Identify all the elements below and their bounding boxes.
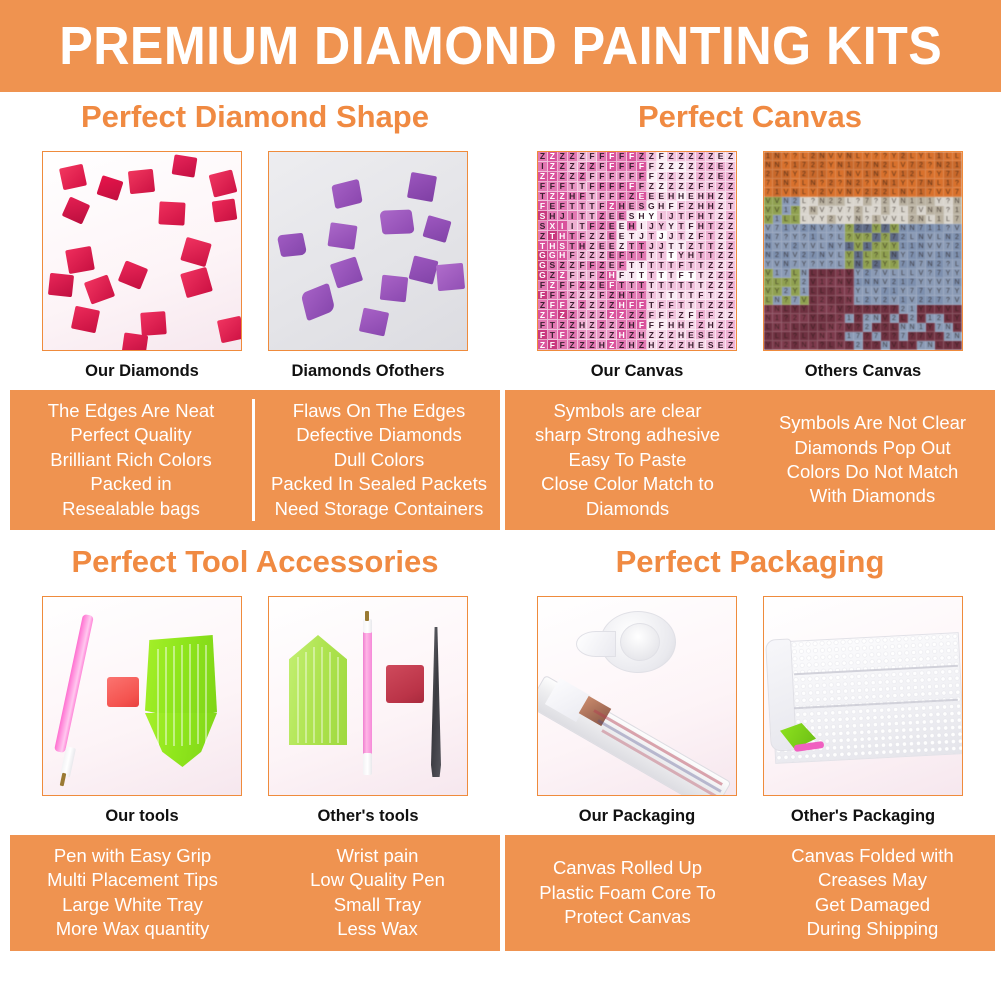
- canvas-symbol-cell-blurry: 1: [899, 170, 908, 179]
- canvas-symbol-cell: T: [667, 281, 677, 291]
- canvas-symbol-cell: T: [587, 192, 597, 202]
- canvas-symbol-cell: F: [617, 271, 627, 281]
- canvas-symbol-cell: T: [706, 291, 716, 301]
- canvas-symbol-cell: T: [667, 241, 677, 251]
- canvas-symbol-cell-blurry: L: [881, 251, 890, 260]
- tray-rib: [189, 644, 191, 745]
- canvas-symbol-cell-blurry: Y: [791, 170, 800, 179]
- canvas-symbol-cell: T: [647, 281, 657, 291]
- canvas-symbol-cell: T: [637, 241, 647, 251]
- canvas-symbol-cell-blurry: 7: [854, 332, 863, 341]
- canvas-symbol-cell-blurry: 2: [917, 161, 926, 170]
- canvas-symbol-cell-blurry: L: [926, 215, 935, 224]
- canvas-symbol-cell-blurry: Y: [908, 179, 917, 188]
- feature-line: Packed in: [12, 472, 250, 496]
- canvas-symbol-cell-blurry: 1: [764, 305, 773, 314]
- canvas-symbol-cell-blurry: ?: [845, 305, 854, 314]
- canvas-symbol-cell-blurry: N: [908, 323, 917, 332]
- canvas-symbol-cell-blurry: Y: [773, 242, 782, 251]
- canvas-symbol-cell-blurry: ?: [764, 332, 773, 341]
- canvas-symbol-cell-blurry: Y: [935, 170, 944, 179]
- canvas-symbol-cell: H: [696, 221, 706, 231]
- canvas-symbol-cell: Z: [696, 152, 706, 162]
- canvas-symbol-cell: F: [568, 271, 578, 281]
- canvas-symbol-cell-blurry: 2: [791, 314, 800, 323]
- canvas-symbol-cell-blurry: ?: [782, 314, 791, 323]
- canvas-symbol-cell: Z: [726, 231, 736, 241]
- feature-box-tools: Pen with Easy Grip Multi Placement Tips …: [10, 835, 500, 951]
- canvas-symbol-cell-blurry: L: [800, 332, 809, 341]
- canvas-symbol-cell-blurry: 2: [890, 278, 899, 287]
- canvas-symbol-cell-blurry: N: [917, 233, 926, 242]
- canvas-symbol-cell: H: [548, 211, 558, 221]
- canvas-symbol-cell-blurry: 7: [908, 278, 917, 287]
- section-tool-accessories: Perfect Tool Accessories: [10, 545, 500, 951]
- canvas-symbol-cell: E: [607, 241, 617, 251]
- canvas-symbol-cell: Z: [587, 281, 597, 291]
- canvas-symbol-cell-blurry: L: [764, 296, 773, 305]
- purple-diamond: [277, 233, 307, 257]
- canvas-symbol-cell-blurry: L: [836, 233, 845, 242]
- canvas-symbol-cell-blurry: ?: [827, 296, 836, 305]
- canvas-symbol-cell: Z: [677, 340, 687, 350]
- feature-col-ours: Canvas Rolled Up Plastic Foam Core To Pr…: [505, 844, 750, 942]
- canvas-symbol-cell: F: [548, 300, 558, 310]
- canvas-symbol-cell-blurry: N: [809, 206, 818, 215]
- canvas-symbol-cell: Z: [548, 162, 558, 172]
- canvas-symbol-cell-blurry: 2: [881, 188, 890, 197]
- wax-square: [107, 677, 139, 707]
- header-banner: PREMIUM DIAMOND PAINTING KITS: [0, 0, 1001, 92]
- canvas-symbol-cell-blurry: N: [782, 251, 791, 260]
- canvas-symbol-cell-blurry: Y: [935, 287, 944, 296]
- canvas-symbol-cell-blurry: 1: [773, 269, 782, 278]
- canvas-symbol-cell: Z: [548, 271, 558, 281]
- canvas-symbol-cell: Z: [627, 310, 637, 320]
- canvas-symbol-cell: T: [677, 241, 687, 251]
- canvas-symbol-cell: T: [686, 291, 696, 301]
- canvas-symbol-cell: H: [696, 211, 706, 221]
- canvas-symbol-cell: Y: [667, 221, 677, 231]
- canvas-symbol-cell-blurry: 2: [827, 278, 836, 287]
- canvas-symbol-cell: Z: [587, 320, 597, 330]
- canvas-symbol-cell-blurry: 1: [863, 242, 872, 251]
- canvas-symbol-cell: Z: [558, 310, 568, 320]
- canvas-symbol-cell: Z: [716, 320, 726, 330]
- canvas-symbol-cell-blurry: V: [791, 224, 800, 233]
- canvas-symbol-cell-blurry: Y: [917, 278, 926, 287]
- canvas-symbol-cell: Z: [578, 291, 588, 301]
- canvas-symbol-cell: F: [597, 201, 607, 211]
- canvas-symbol-cell-blurry: 7: [917, 287, 926, 296]
- canvas-symbol-cell-blurry: L: [890, 188, 899, 197]
- canvas-symbol-cell-blurry: N: [773, 296, 782, 305]
- canvas-symbol-cell-blurry: Y: [944, 278, 953, 287]
- canvas-symbol-cell: I: [558, 221, 568, 231]
- canvas-symbol-cell: E: [627, 201, 637, 211]
- canvas-symbol-cell-blurry: 7: [926, 188, 935, 197]
- canvas-symbol-cell-blurry: ?: [863, 233, 872, 242]
- canvas-symbol-cell-blurry: ?: [881, 152, 890, 161]
- canvas-symbol-cell-blurry: 7: [836, 323, 845, 332]
- canvas-symbol-cell-blurry: 1: [773, 215, 782, 224]
- canvas-symbol-cell: E: [548, 201, 558, 211]
- canvas-symbol-cell: Z: [548, 152, 558, 162]
- canvas-symbol-cell-blurry: ?: [854, 314, 863, 323]
- canvas-symbol-cell: T: [647, 271, 657, 281]
- canvas-symbol-cell: T: [647, 261, 657, 271]
- canvas-symbol-cell-blurry: N: [764, 233, 773, 242]
- feature-col-ours: The Edges Are Neat Perfect Quality Brill…: [10, 399, 255, 521]
- canvas-symbol-cell: T: [706, 241, 716, 251]
- canvas-symbol-cell: Z: [716, 300, 726, 310]
- canvas-symbol-cell: Z: [706, 281, 716, 291]
- canvas-symbol-cell: Z: [607, 291, 617, 301]
- canvas-symbol-cell-blurry: 7: [872, 332, 881, 341]
- canvas-symbol-cell-blurry: Y: [899, 179, 908, 188]
- canvas-symbol-cell-blurry: Y: [764, 278, 773, 287]
- canvas-symbol-cell-blurry: V: [935, 242, 944, 251]
- canvas-symbol-cell-blurry: N: [908, 260, 917, 269]
- canvas-symbol-cell-blurry: Y: [926, 278, 935, 287]
- canvas-symbol-cell: T: [627, 241, 637, 251]
- canvas-symbol-cell: F: [617, 261, 627, 271]
- canvas-symbol-cell-blurry: ?: [881, 332, 890, 341]
- canvas-symbol-cell: Z: [726, 291, 736, 301]
- canvas-symbol-cell: Z: [716, 182, 726, 192]
- canvas-symbol-cell-blurry: N: [899, 197, 908, 206]
- canvas-symbol-cell-blurry: 2: [854, 179, 863, 188]
- feature-line: Large White Tray: [12, 893, 253, 917]
- canvas-symbol-cell: Z: [597, 310, 607, 320]
- feature-line: Resealable bags: [12, 497, 250, 521]
- canvas-symbol-cell: F: [686, 211, 696, 221]
- canvas-symbol-cell-blurry: ?: [926, 170, 935, 179]
- canvas-symbol-cell-blurry: N: [926, 179, 935, 188]
- canvas-symbol-cell-blurry: ?: [863, 215, 872, 224]
- canvas-symbol-cell-blurry: ?: [827, 170, 836, 179]
- canvas-symbol-cell: F: [607, 162, 617, 172]
- canvas-symbol-cell: Z: [726, 172, 736, 182]
- canvas-symbol-cell-blurry: 2: [773, 251, 782, 260]
- canvas-symbol-cell-blurry: ?: [809, 197, 818, 206]
- canvas-symbol-cell: F: [647, 320, 657, 330]
- canvas-symbol-cell: G: [647, 201, 657, 211]
- canvas-symbol-cell-blurry: ?: [926, 161, 935, 170]
- canvas-symbol-cell-blurry: 2: [809, 161, 818, 170]
- canvas-symbol-cell: F: [637, 300, 647, 310]
- canvas-symbol-cell: Z: [597, 320, 607, 330]
- section-title-canvas: Perfect Canvas: [505, 100, 995, 146]
- canvas-symbol-cell: H: [627, 221, 637, 231]
- canvas-symbol-cell: Z: [568, 261, 578, 271]
- canvas-symbol-cell: Z: [706, 261, 716, 271]
- canvas-symbol-cell-blurry: L: [863, 251, 872, 260]
- canvas-symbol-cell: T: [578, 182, 588, 192]
- canvas-symbol-cell-blurry: 2: [935, 314, 944, 323]
- canvas-symbol-cell-blurry: V: [818, 206, 827, 215]
- canvas-symbol-cell-blurry: N: [827, 242, 836, 251]
- canvas-symbol-cell-blurry: L: [944, 314, 953, 323]
- canvas-symbol-cell: F: [617, 162, 627, 172]
- canvas-symbol-cell: F: [637, 182, 647, 192]
- canvas-symbol-cell-blurry: 7: [899, 260, 908, 269]
- canvas-symbol-cell-blurry: N: [782, 197, 791, 206]
- canvas-symbol-cell-blurry: 7: [917, 332, 926, 341]
- canvas-symbol-cell: Z: [716, 310, 726, 320]
- pink-pen: [363, 629, 372, 757]
- canvas-symbol-cell-blurry: L: [899, 341, 908, 350]
- canvas-symbol-cell: Z: [677, 182, 687, 192]
- canvas-symbol-cell: F: [568, 251, 578, 261]
- canvas-symbol-cell-blurry: 2: [890, 314, 899, 323]
- canvas-symbol-cell-blurry: V: [944, 305, 953, 314]
- tray-rib: [165, 647, 167, 745]
- canvas-symbol-cell-blurry: 2: [881, 161, 890, 170]
- canvas-symbol-cell: T: [538, 192, 548, 202]
- canvas-symbol-cell-blurry: Y: [827, 269, 836, 278]
- canvas-symbol-cell-blurry: 7: [926, 305, 935, 314]
- red-diamond: [140, 311, 167, 336]
- canvas-symbol-cell-blurry: V: [836, 188, 845, 197]
- canvas-symbol-cell-blurry: V: [764, 224, 773, 233]
- red-diamond: [71, 306, 100, 334]
- canvas-symbol-cell: I: [538, 162, 548, 172]
- canvas-symbol-cell-blurry: 2: [827, 179, 836, 188]
- feature-line: With Diamonds: [752, 484, 993, 508]
- canvas-symbol-cell: Z: [726, 261, 736, 271]
- canvas-symbol-cell: H: [568, 192, 578, 202]
- canvas-symbol-cell-blurry: 2: [791, 197, 800, 206]
- canvas-symbol-cell-blurry: 1: [935, 251, 944, 260]
- canvas-symbol-cell-blurry: 7: [917, 341, 926, 350]
- canvas-symbol-cell: Z: [706, 300, 716, 310]
- canvas-symbol-cell-blurry: 7: [791, 296, 800, 305]
- canvas-symbol-cell: T: [578, 201, 588, 211]
- canvas-symbol-cell: F: [686, 320, 696, 330]
- canvas-symbol-cell-blurry: Y: [809, 314, 818, 323]
- canvas-symbol-cell-blurry: 7: [863, 161, 872, 170]
- canvas-symbol-cell: T: [578, 211, 588, 221]
- canvas-symbol-cell: T: [568, 231, 578, 241]
- canvas-symbol-cell: Z: [597, 330, 607, 340]
- canvas-symbol-cell: F: [686, 221, 696, 231]
- canvas-symbol-cell-blurry: 1: [926, 224, 935, 233]
- canvas-symbol-cell: F: [637, 172, 647, 182]
- canvas-symbol-cell-blurry: 1: [773, 188, 782, 197]
- canvas-symbol-cell-blurry: ?: [872, 242, 881, 251]
- canvas-symbol-cell-blurry: ?: [872, 152, 881, 161]
- canvas-symbol-cell-blurry: L: [836, 260, 845, 269]
- canvas-symbol-cell-blurry: N: [854, 260, 863, 269]
- canvas-symbol-cell-blurry: N: [926, 341, 935, 350]
- canvas-symbol-cell: F: [696, 291, 706, 301]
- canvas-symbol-cell-blurry: ?: [872, 341, 881, 350]
- canvas-symbol-cell-blurry: 1: [773, 179, 782, 188]
- canvas-symbol-cell-blurry: V: [881, 215, 890, 224]
- canvas-symbol-cell-blurry: V: [764, 269, 773, 278]
- canvas-symbol-cell: Z: [578, 340, 588, 350]
- canvas-symbol-cell: Y: [647, 211, 657, 221]
- canvas-symbol-cell-blurry: 2: [863, 269, 872, 278]
- canvas-symbol-cell-blurry: 1: [908, 305, 917, 314]
- canvas-symbol-cell-blurry: N: [845, 296, 854, 305]
- canvas-symbol-cell: Z: [686, 201, 696, 211]
- canvas-symbol-cell-blurry: Y: [872, 224, 881, 233]
- canvas-symbol-cell: T: [627, 271, 637, 281]
- canvas-symbol-cell: Z: [677, 172, 687, 182]
- canvas-symbol-cell-blurry: 1: [890, 287, 899, 296]
- canvas-symbol-cell-blurry: L: [953, 323, 962, 332]
- canvas-symbol-cell-blurry: 1: [845, 314, 854, 323]
- canvas-symbol-cell: F: [617, 182, 627, 192]
- canvas-symbol-cell: F: [538, 281, 548, 291]
- canvas-symbol-cell-blurry: Y: [917, 152, 926, 161]
- canvas-symbol-cell-blurry: L: [773, 278, 782, 287]
- canvas-symbol-cell: I: [568, 211, 578, 221]
- canvas-symbol-cell-blurry: N: [773, 305, 782, 314]
- caption-other-tools: Other's tools: [268, 807, 468, 826]
- canvas-symbol-cell: Z: [568, 300, 578, 310]
- canvas-symbol-cell-blurry: ?: [791, 332, 800, 341]
- canvas-symbol-cell-blurry: 7: [827, 206, 836, 215]
- canvas-symbol-cell-blurry: V: [926, 332, 935, 341]
- canvas-symbol-cell-blurry: Y: [818, 215, 827, 224]
- canvas-symbol-cell: T: [637, 291, 647, 301]
- feature-line: Wrist pain: [257, 844, 498, 868]
- canvas-symbol-cell-blurry: ?: [800, 206, 809, 215]
- canvas-symbol-cell-blurry: ?: [881, 170, 890, 179]
- canvas-symbol-cell-blurry: V: [764, 215, 773, 224]
- canvas-symbol-cell-blurry: V: [827, 152, 836, 161]
- canvas-symbol-cell: Z: [716, 211, 726, 221]
- caption-our-canvas: Our Canvas: [537, 362, 737, 381]
- canvas-symbol-cell: T: [627, 281, 637, 291]
- canvas-symbol-cell: Z: [706, 271, 716, 281]
- canvas-symbol-cell-blurry: L: [953, 260, 962, 269]
- tray-rib: [329, 652, 331, 743]
- feature-line: Low Quality Pen: [257, 868, 498, 892]
- canvas-symbol-cell: F: [617, 192, 627, 202]
- canvas-symbol-cell-blurry: V: [890, 197, 899, 206]
- canvas-symbol-cell: Z: [627, 192, 637, 202]
- canvas-symbol-cell-blurry: N: [818, 251, 827, 260]
- canvas-symbol-cell: Z: [607, 310, 617, 320]
- canvas-symbol-cell: T: [548, 320, 558, 330]
- canvas-symbol-cell: E: [617, 221, 627, 231]
- canvas-symbol-cell-blurry: 1: [944, 179, 953, 188]
- canvas-symbol-cell-blurry: ?: [944, 296, 953, 305]
- canvas-symbol-cell-blurry: 1: [935, 215, 944, 224]
- canvas-symbol-cell: F: [607, 281, 617, 291]
- canvas-symbol-cell-blurry: 7: [917, 260, 926, 269]
- canvas-symbol-cell: E: [617, 231, 627, 241]
- canvas-symbol-cell: Z: [548, 281, 558, 291]
- canvas-symbol-cell-blurry: N: [782, 170, 791, 179]
- feature-line: Diamonds: [507, 497, 748, 521]
- canvas-symbol-cell-blurry: 7: [845, 287, 854, 296]
- canvas-symbol-cell-blurry: 1: [782, 224, 791, 233]
- canvas-symbol-cell: F: [558, 291, 568, 301]
- canvas-symbol-cell-blurry: 2: [827, 197, 836, 206]
- canvas-symbol-cell-blurry: Y: [818, 260, 827, 269]
- canvas-symbol-cell: Z: [716, 291, 726, 301]
- canvas-symbol-cell: Z: [726, 281, 736, 291]
- canvas-symbol-cell: Z: [716, 330, 726, 340]
- canvas-symbol-cell-blurry: L: [908, 233, 917, 242]
- canvas-symbol-cell-blurry: ?: [827, 224, 836, 233]
- canvas-symbol-cell-blurry: 7: [935, 269, 944, 278]
- other-packaging-photo: [763, 596, 963, 796]
- canvas-symbol-cell: F: [627, 182, 637, 192]
- section-canvas: Perfect Canvas ZZZZZFFFFFZZFZZZZZEZIZZZZ…: [505, 100, 995, 530]
- canvas-symbol-cell: H: [667, 320, 677, 330]
- canvas-symbol-cell: F: [647, 310, 657, 320]
- canvas-symbol-cell: T: [667, 291, 677, 301]
- canvas-symbol-cell: S: [548, 261, 558, 271]
- canvas-symbol-cell: T: [686, 281, 696, 291]
- canvas-symbol-cell: F: [607, 172, 617, 182]
- canvas-symbol-cell: Z: [558, 152, 568, 162]
- our-packaging-photo: [537, 596, 737, 796]
- canvas-symbol-cell-blurry: L: [782, 305, 791, 314]
- canvas-symbol-cell-blurry: V: [926, 233, 935, 242]
- canvas-symbol-cell: Z: [657, 330, 667, 340]
- canvas-symbol-cell-blurry: Y: [800, 260, 809, 269]
- canvas-symbol-cell-blurry: 7: [908, 161, 917, 170]
- canvas-symbol-cell: E: [607, 251, 617, 261]
- canvas-symbol-cell: T: [647, 231, 657, 241]
- feature-line: Creases May: [752, 868, 993, 892]
- canvas-symbol-cell-blurry: ?: [944, 224, 953, 233]
- feature-line: Flaws On The Edges: [260, 399, 498, 423]
- canvas-symbol-cell: T: [696, 241, 706, 251]
- canvas-symbol-cell-blurry: 7: [863, 197, 872, 206]
- canvas-symbol-cell-blurry: L: [926, 152, 935, 161]
- canvas-symbol-cell: F: [647, 172, 657, 182]
- canvas-symbol-cell: T: [587, 201, 597, 211]
- canvas-symbol-cell-blurry: 2: [818, 188, 827, 197]
- canvas-symbol-cell: H: [706, 192, 716, 202]
- canvas-symbol-cell-blurry: N: [836, 161, 845, 170]
- canvas-symbol-cell: F: [677, 271, 687, 281]
- canvas-symbol-cell: Z: [706, 162, 716, 172]
- canvas-symbol-cell: X: [548, 221, 558, 231]
- image-cell-our-packaging: Our Packaging: [537, 596, 737, 826]
- canvas-symbol-cell-blurry: ?: [845, 224, 854, 233]
- canvas-symbol-cell-blurry: ?: [818, 341, 827, 350]
- canvas-symbol-cell: T: [647, 300, 657, 310]
- canvas-symbol-cell: F: [568, 281, 578, 291]
- canvas-symbol-cell-blurry: L: [818, 323, 827, 332]
- canvas-symbol-cell-blurry: 1: [872, 215, 881, 224]
- canvas-symbol-cell-blurry: Y: [935, 197, 944, 206]
- canvas-symbol-cell-blurry: 1: [917, 197, 926, 206]
- canvas-symbol-cell: T: [568, 241, 578, 251]
- canvas-symbol-cell: H: [558, 231, 568, 241]
- canvas-symbol-cell-blurry: ?: [782, 296, 791, 305]
- canvas-symbol-cell-blurry: N: [899, 188, 908, 197]
- canvas-symbol-cell-blurry: ?: [782, 233, 791, 242]
- canvas-symbol-cell: F: [696, 310, 706, 320]
- canvas-symbol-cell: H: [627, 320, 637, 330]
- canvas-symbol-cell: E: [637, 192, 647, 202]
- canvas-symbol-cell-blurry: N: [773, 152, 782, 161]
- feature-line: Diamonds Pop Out: [752, 436, 993, 460]
- canvas-symbol-cell-blurry: ?: [872, 197, 881, 206]
- canvas-symbol-cell-blurry: V: [890, 215, 899, 224]
- canvas-symbol-cell-blurry: L: [890, 161, 899, 170]
